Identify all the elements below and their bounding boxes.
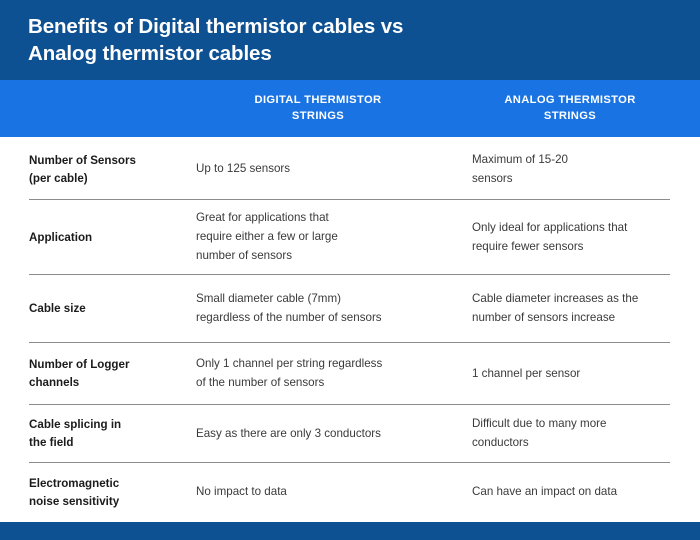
comparison-infographic: Benefits of Digital thermistor cables vs… [0,0,700,525]
title-band: Benefits of Digital thermistor cables vs… [0,0,700,80]
header-analog-thermistor-strings: ANALOG THERMISTOR STRINGS [440,93,700,123]
comparison-table-body: Number of Sensors (per cable) Up to 125 … [0,137,700,522]
row-digital-value: Only 1 channel per string regardless of … [196,355,472,393]
table-row: Cable splicing in the field Easy as ther… [0,405,700,463]
table-header-row: DIGITAL THERMISTOR STRINGS ANALOG THERMI… [0,80,700,137]
row-feature-label: Cable size [29,300,196,318]
row-analog-value: Cable diameter increases as the number o… [472,290,670,328]
table-row: Number of Sensors (per cable) Up to 125 … [0,139,700,200]
row-analog-value: Difficult due to many more conductors [472,415,670,453]
row-analog-value: 1 channel per sensor [472,365,670,384]
row-digital-value: Up to 125 sensors [196,160,472,179]
table-row: Electromagnetic noise sensitivity No imp… [0,463,700,522]
row-digital-value: Small diameter cable (7mm) regardless of… [196,290,472,328]
page-title: Benefits of Digital thermistor cables vs… [28,13,672,68]
header-digital-thermistor-strings: DIGITAL THERMISTOR STRINGS [196,93,440,123]
row-digital-value: Easy as there are only 3 conductors [196,425,472,444]
row-digital-value: No impact to data [196,483,472,502]
table-row: Application Great for applications that … [0,200,700,275]
row-analog-value: Can have an impact on data [472,483,670,502]
row-analog-value: Only ideal for applications that require… [472,219,670,257]
row-feature-label: Application [29,229,196,247]
row-analog-value: Maximum of 15-20 sensors [472,151,670,189]
row-feature-label: Electromagnetic noise sensitivity [29,475,196,511]
row-feature-label: Cable splicing in the field [29,416,196,452]
table-row: Number of Logger channels Only 1 channel… [0,343,700,405]
row-feature-label: Number of Sensors (per cable) [29,152,196,188]
table-row: Cable size Small diameter cable (7mm) re… [0,275,700,343]
row-feature-label: Number of Logger channels [29,356,196,392]
row-digital-value: Great for applications that require eith… [196,209,472,265]
